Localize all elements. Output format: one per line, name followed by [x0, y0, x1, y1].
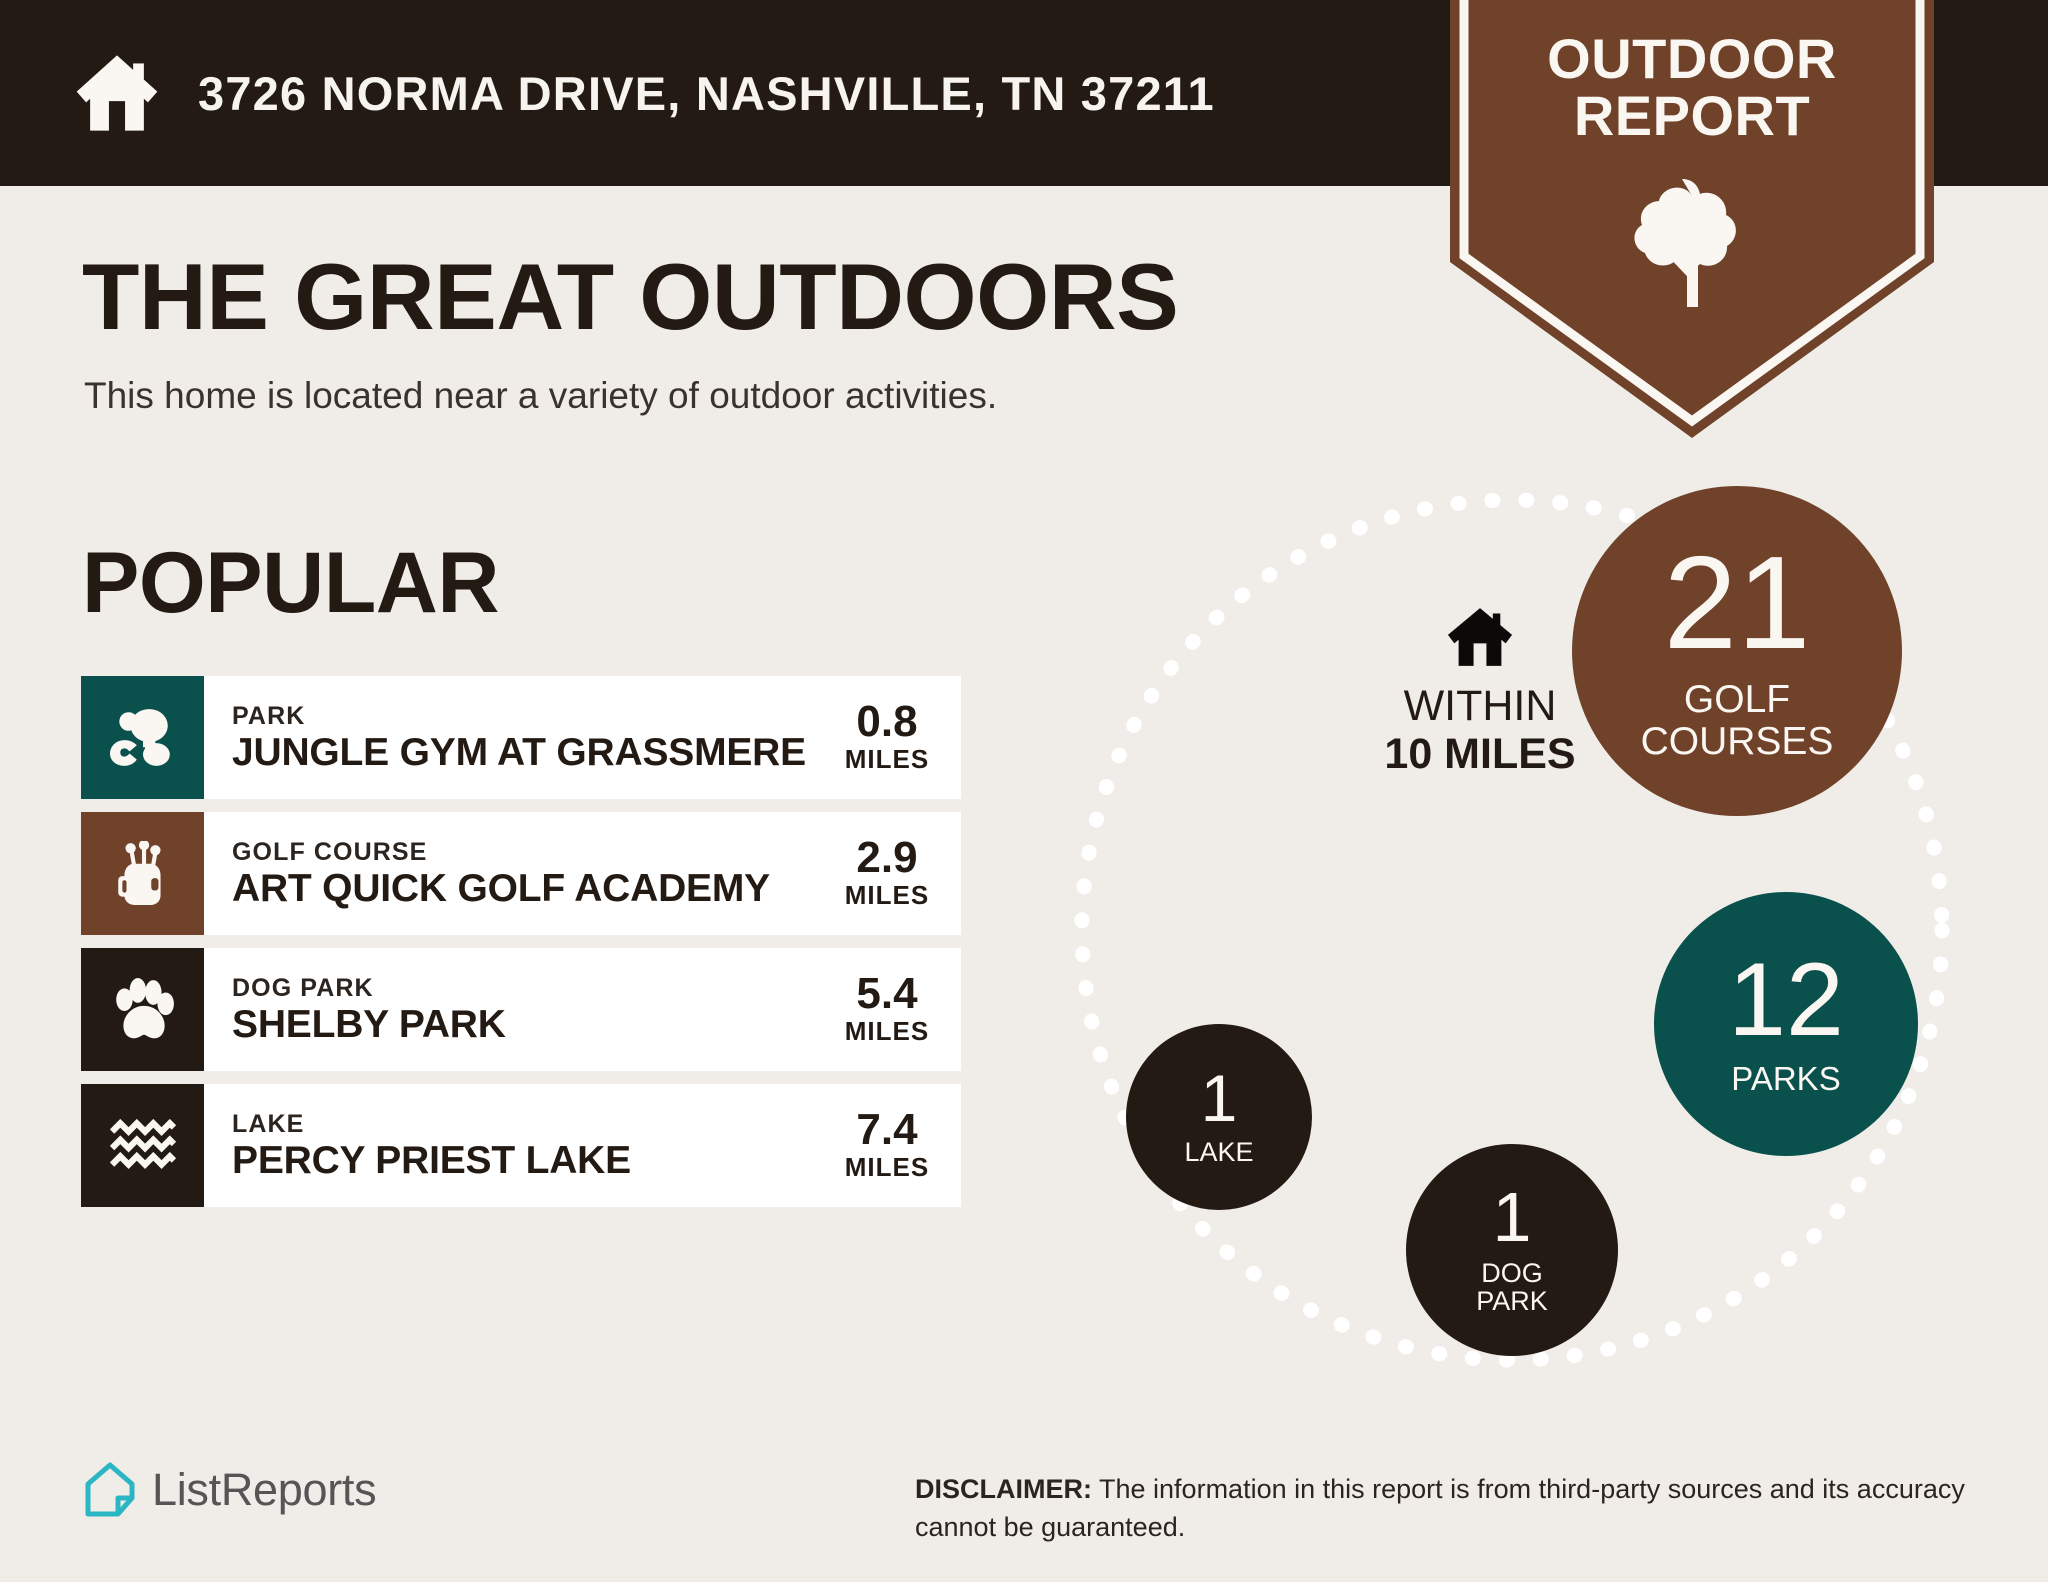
- list-item-text: GOLF COURSE ART QUICK GOLF ACADEMY: [232, 837, 782, 910]
- stat-label-line-1: DOG: [1476, 1259, 1548, 1288]
- listreports-logo[interactable]: ListReports: [84, 1462, 376, 1518]
- list-item-name: SHELBY PARK: [232, 1004, 506, 1046]
- distance-value: 0.8: [835, 700, 939, 745]
- property-address: 3726 NORMA DRIVE, NASHVILLE, TN 37211: [198, 70, 1215, 117]
- stat-bubble-golf-courses: 21 GOLF COURSES: [1572, 486, 1902, 816]
- stat-count: 12: [1728, 951, 1844, 1050]
- list-item-category: DOG PARK: [232, 973, 506, 1004]
- badge-line-1: OUTDOOR: [1547, 27, 1837, 90]
- distance-unit: MILES: [835, 1153, 939, 1183]
- stat-label: LAKE: [1184, 1138, 1253, 1167]
- page-title: THE GREAT OUTDOORS: [82, 250, 1178, 344]
- list-item-body: PARK JUNGLE GYM AT GRASSMERE 0.8 MILES: [204, 676, 961, 799]
- stat-count: 1: [1201, 1067, 1238, 1130]
- distance-value: 7.4: [835, 1108, 939, 1153]
- stat-bubble-dog-park: 1 DOG PARK: [1406, 1144, 1618, 1356]
- distance-value: 5.4: [835, 972, 939, 1017]
- home-icon: [74, 50, 160, 136]
- golf-bag-icon: [81, 812, 204, 935]
- stat-count: 1: [1493, 1184, 1532, 1251]
- popular-list: PARK JUNGLE GYM AT GRASSMERE 0.8 MILES: [81, 676, 961, 1220]
- park-trees-icon: [81, 676, 204, 799]
- list-item-distance: 2.9 MILES: [835, 836, 939, 911]
- paw-print-icon: [81, 948, 204, 1071]
- list-item-body: DOG PARK SHELBY PARK 5.4 MILES: [204, 948, 961, 1071]
- stat-label-line-2: COURSES: [1641, 721, 1834, 762]
- listreports-house-icon: [84, 1462, 136, 1518]
- list-item[interactable]: GOLF COURSE ART QUICK GOLF ACADEMY 2.9 M…: [81, 812, 961, 935]
- list-item-name: PERCY PRIEST LAKE: [232, 1140, 631, 1182]
- outdoor-report-badge: OUTDOOR REPORT: [1450, 0, 1934, 438]
- popular-heading: POPULAR: [82, 540, 499, 626]
- badge-title: OUTDOOR REPORT: [1450, 30, 1934, 144]
- list-item-name: JUNGLE GYM AT GRASSMERE: [232, 732, 806, 774]
- page-subtitle: This home is located near a variety of o…: [84, 375, 997, 417]
- distance-unit: MILES: [835, 881, 939, 911]
- list-item[interactable]: LAKE PERCY PRIEST LAKE 7.4 MILES: [81, 1084, 961, 1207]
- list-item-body: LAKE PERCY PRIEST LAKE 7.4 MILES: [204, 1084, 961, 1207]
- list-item-distance: 5.4 MILES: [835, 972, 939, 1047]
- water-waves-icon: [81, 1084, 204, 1207]
- list-item-distance: 7.4 MILES: [835, 1108, 939, 1183]
- distance-value: 2.9: [835, 836, 939, 881]
- stat-bubble-parks: 12 PARKS: [1654, 892, 1918, 1156]
- list-item[interactable]: PARK JUNGLE GYM AT GRASSMERE 0.8 MILES: [81, 676, 961, 799]
- stat-bubble-lake: 1 LAKE: [1126, 1024, 1312, 1210]
- stat-label-line-2: PARK: [1476, 1287, 1548, 1316]
- list-item-body: GOLF COURSE ART QUICK GOLF ACADEMY 2.9 M…: [204, 812, 961, 935]
- outdoor-report-infographic: 3726 NORMA DRIVE, NASHVILLE, TN 37211 OU…: [0, 0, 2048, 1582]
- stat-count: 21: [1664, 540, 1811, 665]
- listreports-wordmark: ListReports: [152, 1464, 376, 1516]
- list-item-category: PARK: [232, 701, 806, 732]
- within-10-miles-diagram: WITHIN 10 MILES 21 GOLF COURSES 12 PARKS…: [1060, 420, 2020, 1440]
- list-item-category: LAKE: [232, 1109, 631, 1140]
- list-item-name: ART QUICK GOLF ACADEMY: [232, 868, 770, 910]
- list-item-distance: 0.8 MILES: [835, 700, 939, 775]
- list-item-text: LAKE PERCY PRIEST LAKE: [232, 1109, 643, 1182]
- list-item-category: GOLF COURSE: [232, 837, 770, 868]
- stat-label-line-1: GOLF: [1641, 679, 1834, 720]
- header-content: 3726 NORMA DRIVE, NASHVILLE, TN 37211: [74, 0, 1215, 186]
- stat-label: DOG PARK: [1476, 1259, 1548, 1316]
- disclaimer-label: DISCLAIMER:: [915, 1474, 1092, 1504]
- list-item[interactable]: DOG PARK SHELBY PARK 5.4 MILES: [81, 948, 961, 1071]
- list-item-text: PARK JUNGLE GYM AT GRASSMERE: [232, 701, 818, 774]
- distance-unit: MILES: [835, 745, 939, 775]
- list-item-text: DOG PARK SHELBY PARK: [232, 973, 518, 1046]
- disclaimer: DISCLAIMER: The information in this repo…: [915, 1470, 1975, 1547]
- stat-label: PARKS: [1731, 1062, 1840, 1097]
- center-label-line-2: 10 MILES: [1330, 730, 1630, 778]
- badge-line-2: REPORT: [1450, 87, 1934, 144]
- stat-label: GOLF COURSES: [1641, 679, 1834, 762]
- distance-unit: MILES: [835, 1017, 939, 1047]
